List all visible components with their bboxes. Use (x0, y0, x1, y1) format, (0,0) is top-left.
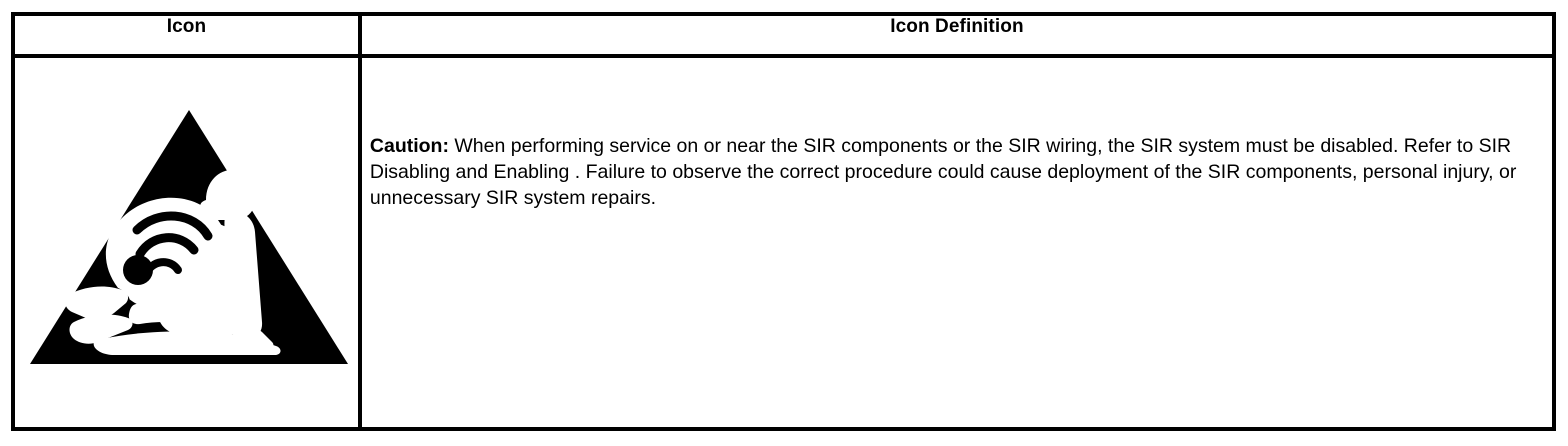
table-body: Caution: When performing service on or n… (13, 56, 1554, 429)
table-row: Caution: When performing service on or n… (13, 56, 1554, 429)
icon-definition-cell: Caution: When performing service on or n… (360, 56, 1554, 429)
sir-airbag-deployment-warning-triangle-icon (28, 108, 350, 368)
caution-label: Caution: (370, 135, 449, 157)
table-header: Icon Icon Definition (13, 14, 1554, 56)
icon-cell (13, 56, 360, 429)
caution-body: When performing service on or near the S… (370, 135, 1516, 209)
table-header-row: Icon Icon Definition (13, 14, 1554, 56)
column-header-icon-definition: Icon Definition (360, 14, 1554, 56)
icon-definition-table: Icon Icon Definition (11, 12, 1556, 431)
caution-definition-text: Caution: When performing service on or n… (370, 133, 1526, 211)
column-header-icon: Icon (13, 14, 360, 56)
warning-triangle-svg (28, 108, 350, 368)
airbag-hub-dot (123, 255, 153, 285)
icon-definition-table-page: Icon Icon Definition (0, 0, 1568, 446)
